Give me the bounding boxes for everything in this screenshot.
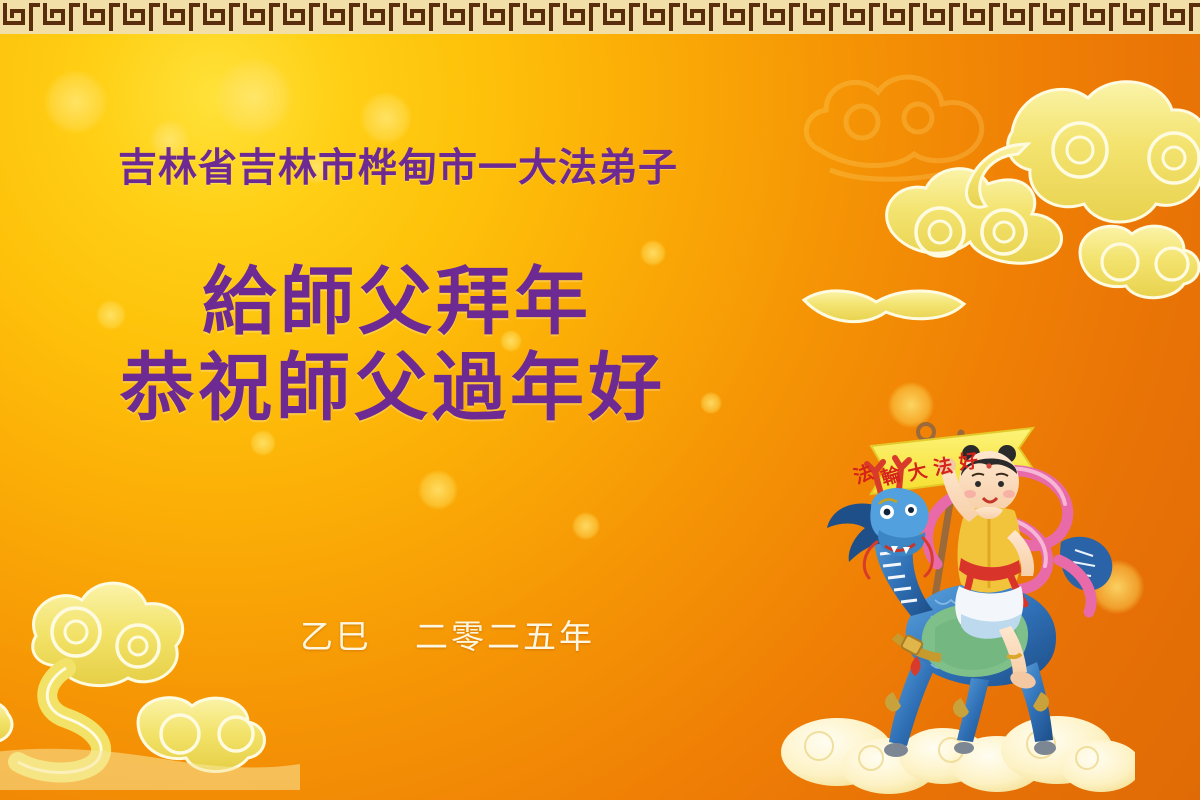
border-key-unit [680, 3, 720, 31]
border-key-unit [1040, 3, 1080, 31]
border-key-unit [1120, 3, 1160, 31]
cloud-ghost-decoration [790, 30, 1040, 230]
border-key-unit [960, 3, 1000, 31]
new-year-greeting-card: 法 輪 大 法 好 吉林省吉林市桦甸市一大法弟子 給師父拜年 恭祝師父過年好 乙… [0, 0, 1200, 800]
bokeh-light [700, 392, 722, 414]
border-key-unit [1000, 3, 1040, 31]
cloud-decoration-top-right [780, 36, 1200, 346]
border-key-unit [1160, 3, 1200, 31]
cloud-decoration-bottom-left [0, 550, 300, 790]
border-key-unit [440, 3, 480, 31]
border-key-unit [200, 3, 240, 31]
border-key-unit [640, 3, 680, 31]
border-key-unit [280, 3, 320, 31]
border-key-unit [600, 3, 640, 31]
bokeh-light [215, 58, 293, 136]
border-key-unit [240, 3, 280, 31]
greeting-line-1: 給師父拜年 [202, 260, 666, 346]
bokeh-light [250, 430, 276, 456]
border-key-unit [720, 3, 760, 31]
date-cyclical: 乙巳 [300, 617, 372, 656]
border-key-unit [880, 3, 920, 31]
border-key-unit [320, 3, 360, 31]
border-key-unit [120, 3, 160, 31]
border-key-unit [80, 3, 120, 31]
sender-line: 吉林省吉林市桦甸市一大法弟子 [118, 137, 678, 193]
border-key-unit [760, 3, 800, 31]
border-key-unit [560, 3, 600, 31]
border-key-unit [920, 3, 960, 31]
border-key-unit [0, 3, 40, 31]
cloud-base [781, 716, 1135, 794]
date-line: 乙巳 二零二五年 [300, 610, 595, 658]
border-key-unit [360, 3, 400, 31]
bokeh-light [418, 470, 458, 510]
border-key-unit [800, 3, 840, 31]
bokeh-light [572, 512, 600, 540]
border-key-unit [1080, 3, 1120, 31]
border-glyph-row [0, 3, 1200, 31]
border-key-unit [480, 3, 520, 31]
bokeh-light [1130, 120, 1166, 156]
bokeh-light [120, 600, 150, 630]
bokeh-light [44, 70, 108, 134]
border-key-unit [400, 3, 440, 31]
border-key-unit [520, 3, 560, 31]
greeting-line-2: 恭祝師父過年好 [120, 346, 666, 432]
greek-key-border [0, 0, 1200, 34]
child-riding-dragon-illustration [775, 410, 1135, 800]
border-key-unit [840, 3, 880, 31]
border-key-unit [40, 3, 80, 31]
greeting-block: 給師父拜年 恭祝師父過年好 [120, 260, 666, 432]
border-key-unit [160, 3, 200, 31]
date-year: 二零二五年 [415, 617, 595, 656]
